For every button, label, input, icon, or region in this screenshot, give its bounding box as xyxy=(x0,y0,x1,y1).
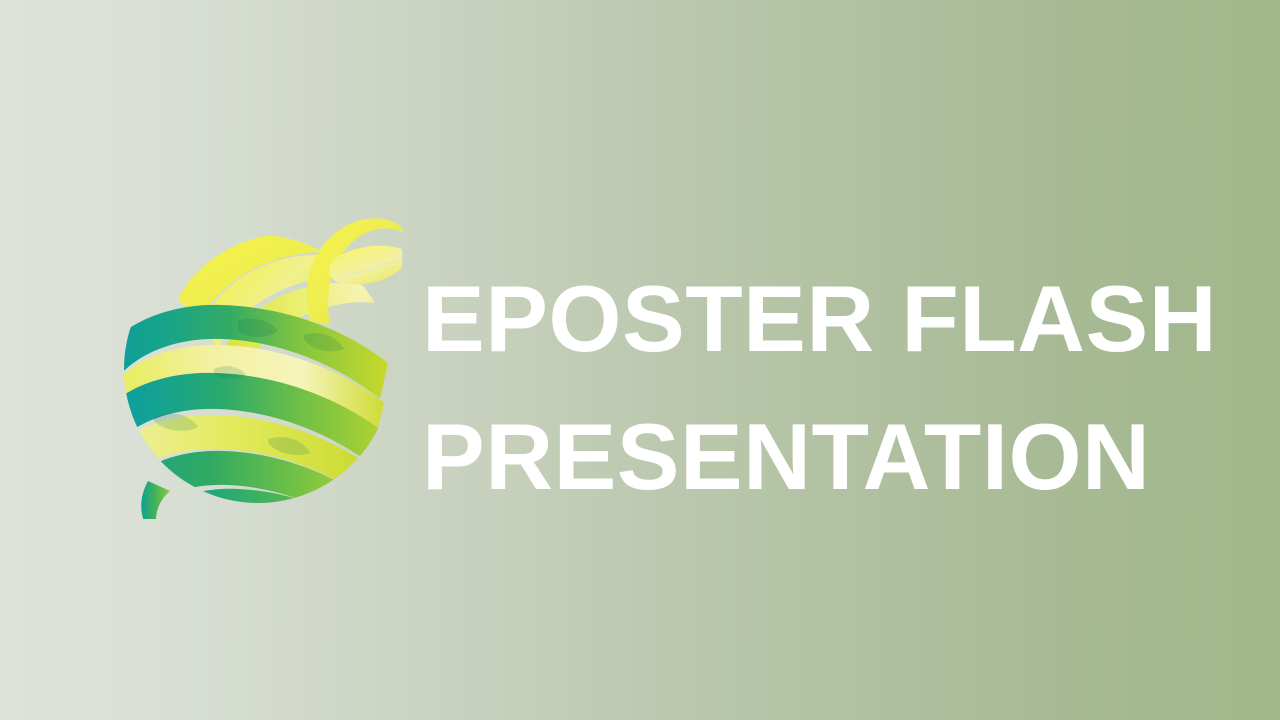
title-slide: EPOSTER FLASH PRESENTATION xyxy=(0,0,1280,720)
slide-title-block: EPOSTER FLASH PRESENTATION xyxy=(422,250,1222,526)
globe-ribbon-logo xyxy=(118,203,402,519)
title-line-1: EPOSTER FLASH xyxy=(422,250,1222,388)
title-line-2: PRESENTATION xyxy=(422,388,1222,526)
leaf-hook xyxy=(307,218,402,325)
